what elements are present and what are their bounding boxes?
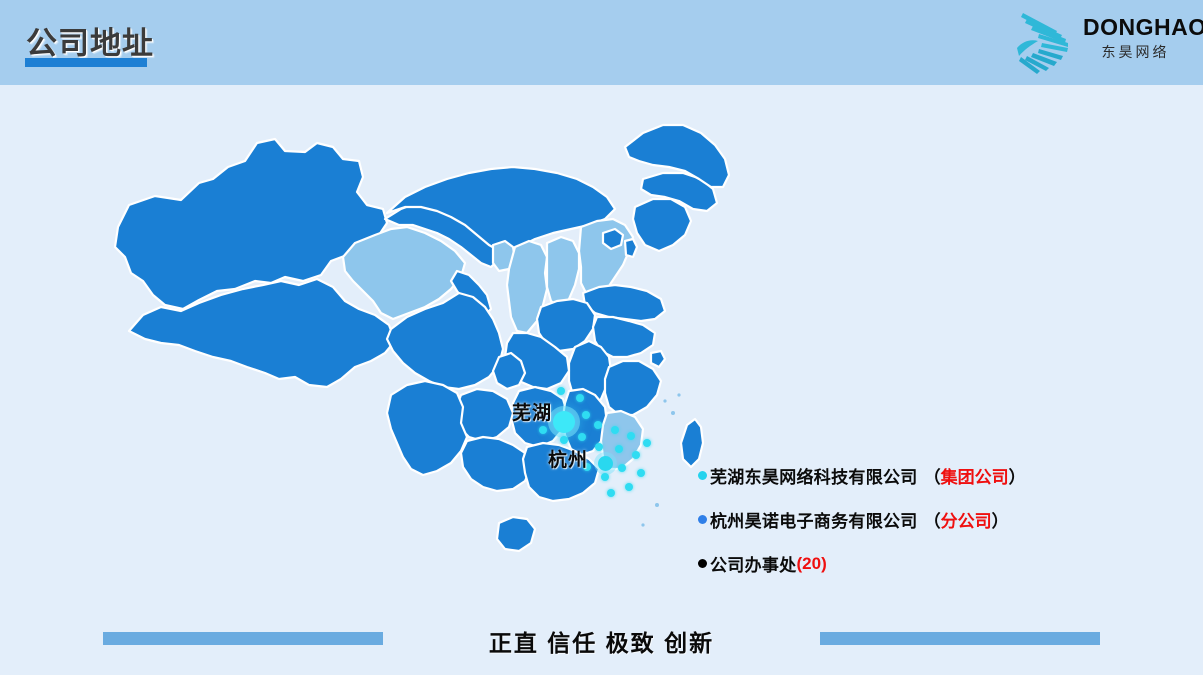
office-dot[interactable] xyxy=(594,421,602,429)
legend-company-name: 芜湖东昊网络科技有限公司 xyxy=(710,463,918,488)
office-dot[interactable] xyxy=(576,394,584,402)
city-marker-hangzhou[interactable] xyxy=(598,456,613,471)
office-dot[interactable] xyxy=(625,483,633,491)
page-title-underline xyxy=(25,58,147,67)
legend-bullet-icon xyxy=(698,515,707,524)
legend-bullet-icon xyxy=(698,471,707,480)
fan-wing-logo-icon xyxy=(1013,8,1081,74)
legend-tag-text: 集团公司 xyxy=(941,468,1009,487)
legend-company-tag: （集团公司） xyxy=(924,463,1026,488)
office-dot[interactable] xyxy=(637,469,645,477)
province-hainan xyxy=(497,517,535,551)
legend-company-name: 杭州昊诺电子商务有限公司 xyxy=(710,507,918,532)
legend-tag-open: （ xyxy=(924,512,941,531)
office-dot[interactable] xyxy=(578,433,586,441)
province-tianjin xyxy=(625,239,637,257)
china-map: 芜湖 杭州 xyxy=(95,95,755,605)
office-dot[interactable] xyxy=(627,432,635,440)
office-dot[interactable] xyxy=(643,439,651,447)
legend-bullet-icon xyxy=(698,559,707,568)
province-shanxi xyxy=(547,237,579,307)
legend-office-count: (20) xyxy=(797,554,827,574)
office-dot[interactable] xyxy=(557,387,565,395)
brand-logo: DONGHAO 东昊网络 xyxy=(1013,6,1185,76)
province-shanghai xyxy=(651,351,665,367)
logo-text-chinese: 东昊网络 xyxy=(1083,45,1185,59)
office-dot[interactable] xyxy=(615,445,623,453)
office-dot[interactable] xyxy=(560,436,568,444)
office-dot[interactable] xyxy=(632,451,640,459)
office-dot[interactable] xyxy=(607,489,615,497)
office-dot[interactable] xyxy=(582,411,590,419)
legend-item-offices: 公司办事处(20) xyxy=(698,551,1128,576)
province-liaoning xyxy=(633,199,691,251)
logo-text-english: DONGHAO xyxy=(1083,16,1185,39)
city-label-hangzhou: 杭州 xyxy=(548,445,588,472)
island-dots xyxy=(641,393,680,526)
legend-tag-close: ） xyxy=(1009,468,1026,487)
office-dot[interactable] xyxy=(601,473,609,481)
legend-tag-close: ） xyxy=(992,512,1009,531)
page-title: 公司地址 xyxy=(26,18,154,63)
office-dot[interactable] xyxy=(539,426,547,434)
legend-company-name: 公司办事处 xyxy=(710,551,797,576)
province-zhejiang xyxy=(605,361,661,415)
office-dot[interactable] xyxy=(595,443,603,451)
province-beijing xyxy=(603,229,623,249)
footer-bar-right xyxy=(820,632,1100,645)
province-yunnan xyxy=(387,381,467,475)
legend: 芜湖东昊网络科技有限公司 （集团公司） 杭州昊诺电子商务有限公司 （分公司） 公… xyxy=(698,463,1128,595)
legend-tag-open: （ xyxy=(924,468,941,487)
province-xinjiang xyxy=(115,139,387,309)
city-marker-wuhu[interactable] xyxy=(553,411,575,433)
legend-tag-text: 分公司 xyxy=(941,512,992,531)
legend-company-tag: （分公司） xyxy=(924,507,1009,532)
office-dot[interactable] xyxy=(618,464,626,472)
province-taiwan xyxy=(681,419,703,467)
province-guangxi xyxy=(461,437,531,491)
legend-item-group-company: 芜湖东昊网络科技有限公司 （集团公司） xyxy=(698,463,1128,488)
legend-item-branch-company: 杭州昊诺电子商务有限公司 （分公司） xyxy=(698,507,1128,532)
office-dot[interactable] xyxy=(611,426,619,434)
city-label-wuhu: 芜湖 xyxy=(512,398,552,425)
china-map-svg xyxy=(95,95,755,605)
